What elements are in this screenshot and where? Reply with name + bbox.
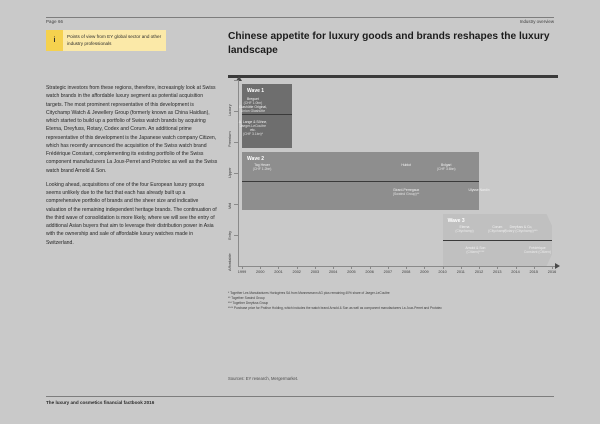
x-axis-tick-label: 2010	[438, 270, 446, 274]
wave-entry: Glashütte Original,Union Glashütte	[239, 105, 267, 114]
y-axis-segment-label: Luxury	[227, 104, 232, 116]
x-axis-tick	[552, 266, 553, 269]
x-axis-tick-label: 2015	[530, 270, 538, 274]
page-title: Chinese appetite for luxury goods and br…	[228, 30, 558, 58]
y-axis-segment-label: Upper	[227, 167, 232, 178]
callout-text: Points of view from EY global sector and…	[63, 30, 166, 51]
source-note: Sources: EY research, Mergermarket.	[228, 376, 298, 381]
y-axis-segment-label: Premium	[227, 131, 232, 147]
footer-divider	[46, 396, 554, 397]
wave-entry: FrédériqueConstant (Citizen)	[524, 246, 551, 255]
x-axis-tick	[461, 266, 462, 269]
title-underline	[228, 75, 558, 78]
x-axis-tick-label: 2001	[274, 270, 282, 274]
consolidation-waves-chart: LuxuryPremiumUpperMidEntryAffordable 199…	[228, 80, 562, 276]
y-axis-segment-label: Entry	[227, 231, 232, 240]
wave-divider	[242, 114, 292, 115]
footnote-item: **** Purchase price for Prothor Holding,…	[228, 306, 562, 311]
wave-entry: Tag Heuer(CHF 1.2bn)	[253, 163, 272, 172]
x-axis-tick-label: 2011	[457, 270, 465, 274]
x-axis-tick	[516, 266, 517, 269]
wave-entry: Girard-Perregaux(Sowind Group)**	[393, 188, 419, 197]
x-axis-tick	[370, 266, 371, 269]
info-icon: i	[46, 30, 63, 51]
body-paragraph-1: Strategic investors from these regions, …	[46, 84, 218, 175]
wave-entry: Arnold & Son(Citizen)****	[465, 246, 485, 255]
x-axis-tick-label: 2007	[384, 270, 392, 274]
footer-text: The luxury and cosmetics financial factb…	[46, 400, 154, 405]
wave-divider	[443, 240, 552, 241]
body-column: Strategic investors from these regions, …	[46, 84, 218, 253]
y-axis-tick	[234, 204, 239, 205]
x-axis-tick	[297, 266, 298, 269]
x-axis-tick-label: 2012	[475, 270, 483, 274]
x-axis-tick	[479, 266, 480, 269]
wave-divider	[242, 181, 479, 182]
y-axis-tick	[234, 235, 239, 236]
x-axis-tick-label: 2016	[548, 270, 556, 274]
x-axis-tick	[388, 266, 389, 269]
wave-block: Wave 2Tag Heuer(CHF 1.2bn)HublotBvlgari(…	[242, 152, 479, 210]
wave-block: Wave 1Breguet(CHF 1.0bn)Glashütte Origin…	[242, 84, 292, 148]
wave-entry: Eterna(Citychamp)	[455, 225, 473, 234]
x-axis-tick-label: 2006	[365, 270, 373, 274]
x-axis-tick	[351, 266, 352, 269]
x-axis-tick-label: 2013	[493, 270, 501, 274]
x-axis-tick-label: 2003	[311, 270, 319, 274]
x-axis-arrow-icon	[555, 263, 560, 269]
wave-title: Wave 1	[247, 88, 264, 94]
x-axis-tick	[315, 266, 316, 269]
wave-block: Wave 3Eterna(Citychamp)Corum(Citychamp)D…	[443, 214, 552, 266]
x-axis-tick	[260, 266, 261, 269]
wave-entry: Ulysse Nardin	[468, 188, 489, 192]
y-axis-segment-label: Affordable	[227, 253, 232, 271]
y-axis-tick	[234, 142, 239, 143]
x-axis-tick-label: 2002	[292, 270, 300, 274]
x-axis-tick-label: 2004	[329, 270, 337, 274]
wave-entry: Dreyfuss & Co,Rotary (Citychamp)***	[504, 225, 537, 234]
x-axis-tick	[534, 266, 535, 269]
x-axis-tick	[443, 266, 444, 269]
x-axis-line	[238, 266, 556, 267]
wave-entry: Bvlgari(CHF 3.6bn)	[437, 163, 456, 172]
x-axis-tick-label: 2014	[511, 270, 519, 274]
callout-box: i Points of view from EY global sector a…	[46, 30, 166, 51]
x-axis-tick-label: 1999	[238, 270, 246, 274]
x-axis-tick	[333, 266, 334, 269]
x-axis-tick	[242, 266, 243, 269]
y-axis-tick	[234, 173, 239, 174]
x-axis-tick-label: 2009	[420, 270, 428, 274]
x-axis-tick	[406, 266, 407, 269]
header-divider	[46, 17, 554, 18]
footnotes-list: * Together Les Manufactures Horlogères S…	[228, 291, 562, 311]
wave-entry: Hublot	[401, 163, 411, 167]
x-axis-tick	[497, 266, 498, 269]
x-axis-tick	[278, 266, 279, 269]
x-axis-tick	[424, 266, 425, 269]
section-label: Industry overview	[520, 19, 554, 24]
wave-title: Wave 3	[448, 218, 465, 224]
page-canvas: Page 66 Industry overview i Points of vi…	[0, 0, 600, 424]
wave-title: Wave 2	[247, 156, 264, 162]
x-axis-tick-label: 2000	[256, 270, 264, 274]
x-axis-tick-label: 2005	[347, 270, 355, 274]
page-number: Page 66	[46, 19, 63, 24]
x-axis-tick-label: 2008	[402, 270, 410, 274]
body-paragraph-2: Looking ahead, acquisitions of one of th…	[46, 181, 218, 247]
wave-entry: etc.(CHF 3.1bn)*	[243, 128, 263, 137]
y-axis-segment-label: Mid	[227, 203, 232, 209]
y-axis-tick	[234, 80, 239, 81]
